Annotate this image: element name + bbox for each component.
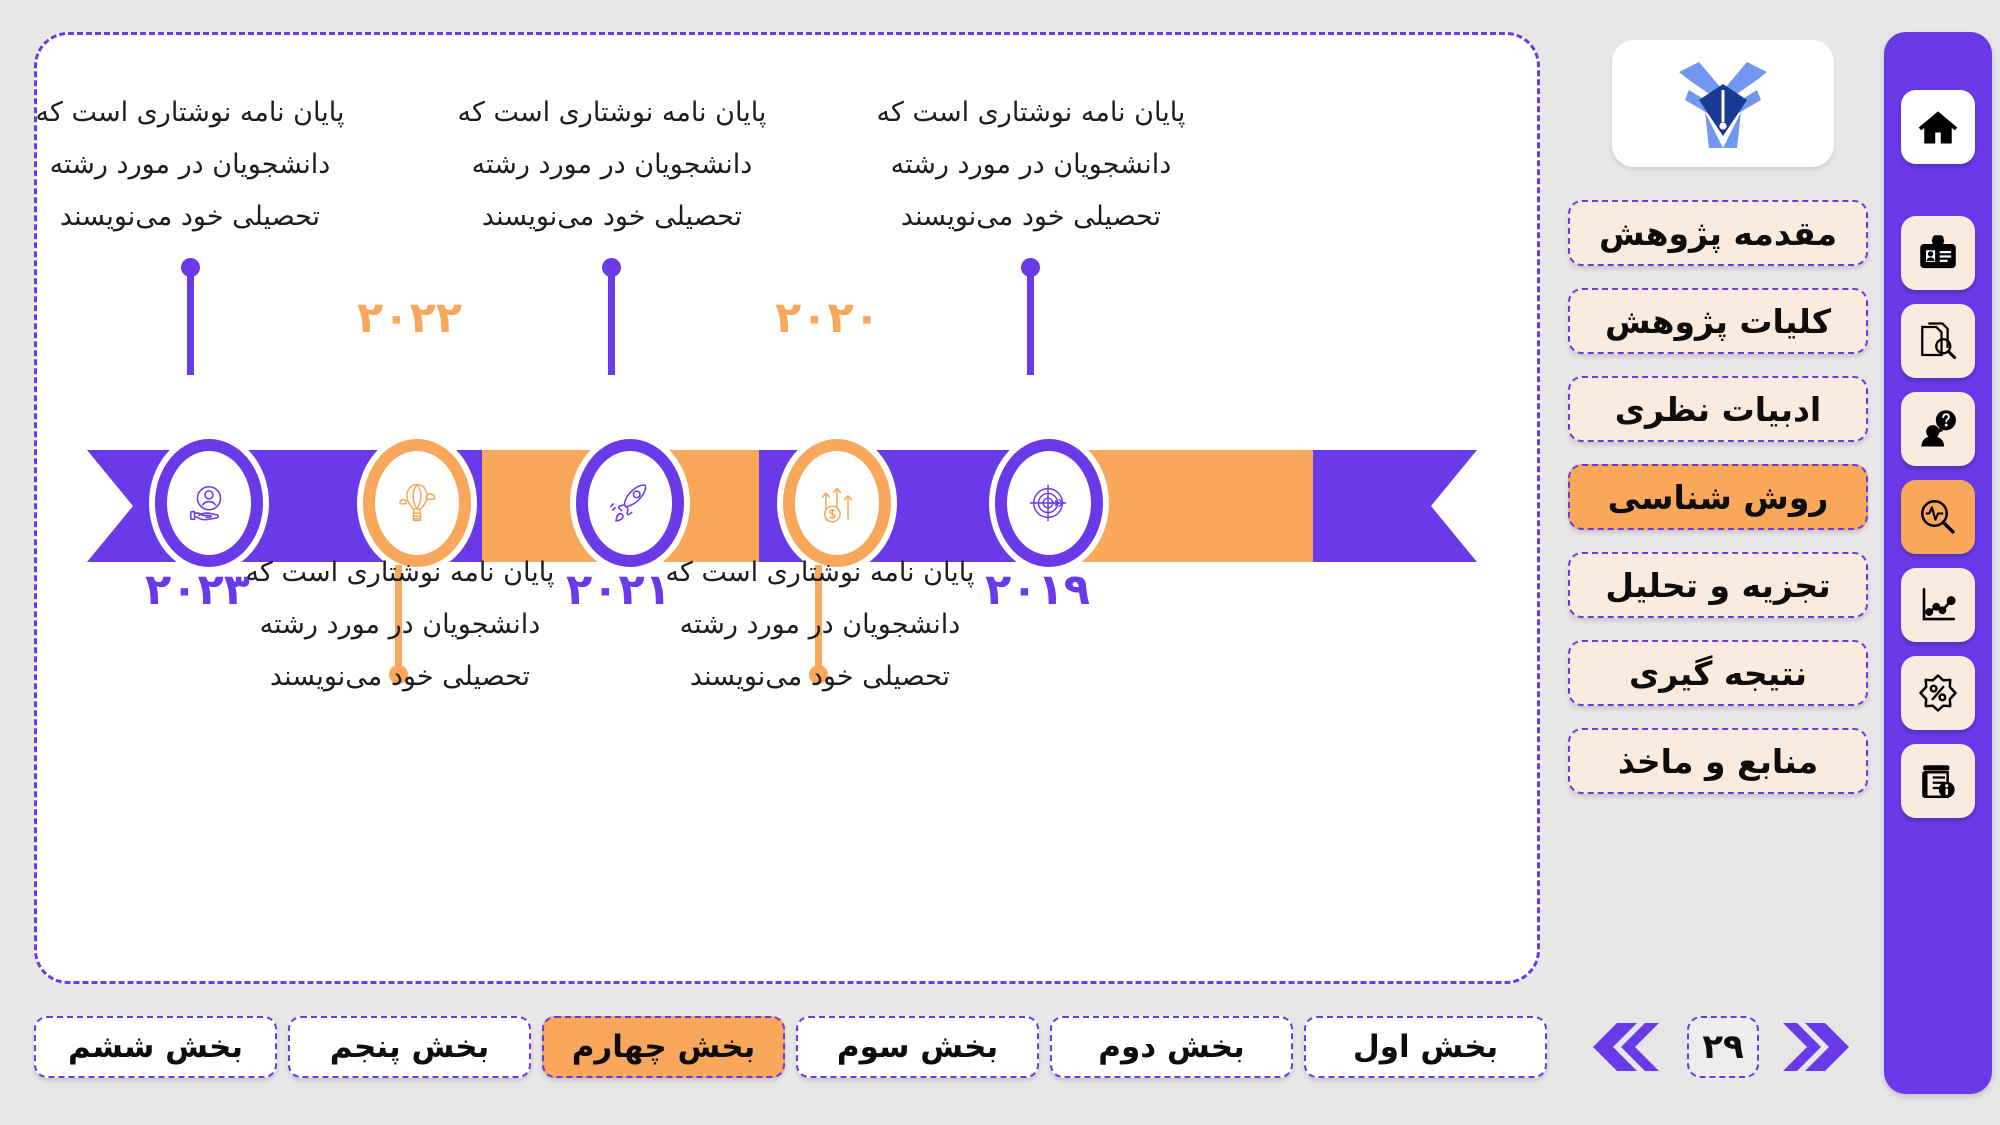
document-search-icon [1917, 320, 1959, 362]
sidebar-item-analysis[interactable]: تجزیه و تحلیل [1568, 552, 1868, 618]
year-label: ۲۰۲۲ [357, 293, 462, 343]
hot-air-balloon-icon [395, 480, 439, 526]
icon-rail [1884, 32, 1992, 1094]
tab-section-five[interactable]: بخش پنجم [288, 1016, 531, 1078]
content-card: ۲۰۲۳ پایان نامه نوشتاری است که دانشجویان… [34, 32, 1540, 984]
tab-label: بخش دوم [1098, 1029, 1245, 1065]
sidebar-item-label: مقدمه پژوهش [1599, 214, 1837, 253]
tab-section-three[interactable]: بخش سوم [796, 1016, 1039, 1078]
sidebar-item-overview[interactable]: کلیات پژوهش [1568, 288, 1868, 354]
double-chevron-left-icon [1583, 1021, 1659, 1073]
node-icon-holder [588, 451, 672, 555]
book-info-icon [1917, 760, 1959, 802]
milestone-description: پایان نامه نوشتاری است که دانشجویان در م… [655, 547, 985, 703]
line-chart-icon [1917, 584, 1959, 626]
rail-item-document-search[interactable] [1901, 304, 1975, 378]
sidebar-item-label: تجزیه و تحلیل [1605, 566, 1830, 605]
rail-item-references[interactable] [1901, 744, 1975, 818]
tab-label: بخش ششم [68, 1029, 243, 1065]
rail-item-question[interactable] [1901, 392, 1975, 466]
page-number-box[interactable]: ۲۹ [1687, 1016, 1759, 1078]
tab-section-six[interactable]: بخش ششم [34, 1016, 277, 1078]
id-badge-icon [1917, 232, 1959, 274]
sidebar-item-introduction[interactable]: مقدمه پژوهش [1568, 200, 1868, 266]
year-label: ۲۰۲۰ [775, 293, 880, 343]
home-icon [1916, 105, 1960, 149]
tab-section-two[interactable]: بخش دوم [1050, 1016, 1293, 1078]
rocket-icon [607, 480, 653, 526]
sidebar-item-label: منابع و ماخذ [1618, 742, 1818, 781]
milestone-description: پایان نامه نوشتاری است که دانشجویان در م… [866, 87, 1196, 243]
year-label: ۲۰۱۹ [985, 565, 1090, 615]
growth-arrows-dollar-icon [816, 480, 858, 526]
milestone-description: پایان نامه نوشتاری است که دانشجویان در م… [25, 87, 355, 243]
sidebar-item-references[interactable]: منابع و ماخذ [1568, 728, 1868, 794]
page-number: ۲۹ [1702, 1027, 1744, 1067]
rail-item-percent[interactable] [1901, 656, 1975, 730]
sidebar-item-label: روش شناسی [1608, 478, 1829, 517]
node-ring [995, 439, 1103, 567]
node-icon-holder [1007, 451, 1091, 555]
sidebar: مقدمه پژوهش کلیات پژوهش ادبیات نظری روش … [1560, 32, 1870, 984]
tab-label: بخش اول [1353, 1029, 1498, 1065]
rail-item-chart[interactable] [1901, 568, 1975, 642]
prev-page-button[interactable] [1580, 1016, 1662, 1078]
hand-holding-user-icon [186, 480, 232, 526]
azad-university-logo-icon [1659, 54, 1787, 154]
sidebar-item-label: ادبیات نظری [1615, 390, 1821, 429]
university-logo [1612, 40, 1834, 167]
next-page-button[interactable] [1780, 1016, 1862, 1078]
milestone-description: پایان نامه نوشتاری است که دانشجویان در م… [235, 547, 565, 703]
percent-badge-icon [1917, 672, 1959, 714]
connector-stem [608, 267, 615, 375]
milestone-description: پایان نامه نوشتاری است که دانشجویان در م… [447, 87, 777, 243]
sidebar-item-label: نتیجه گیری [1629, 654, 1807, 693]
sidebar-item-label: کلیات پژوهش [1605, 302, 1831, 341]
connector-stem [187, 267, 194, 375]
target-arrow-icon [1026, 480, 1072, 526]
sidebar-item-literature[interactable]: ادبیات نظری [1568, 376, 1868, 442]
sidebar-item-conclusion[interactable]: نتیجه گیری [1568, 640, 1868, 706]
tab-label: بخش پنجم [330, 1029, 490, 1065]
tab-section-four[interactable]: بخش چهارم [542, 1016, 785, 1078]
rail-item-methodology[interactable] [1901, 480, 1975, 554]
slide-canvas: ۲۰۲۳ پایان نامه نوشتاری است که دانشجویان… [0, 0, 2000, 1125]
tab-section-one[interactable]: بخش اول [1304, 1016, 1547, 1078]
sidebar-item-methodology[interactable]: روش شناسی [1568, 464, 1868, 530]
node-icon-holder [375, 451, 459, 555]
tab-label: بخش چهارم [572, 1029, 756, 1065]
node-icon-holder [795, 451, 879, 555]
node-icon-holder [167, 451, 251, 555]
timeline-node[interactable] [989, 433, 1109, 573]
tab-label: بخش سوم [837, 1029, 998, 1065]
connector-stem [1027, 267, 1034, 375]
double-chevron-right-icon [1783, 1021, 1859, 1073]
person-question-icon [1917, 408, 1959, 450]
rail-item-profile[interactable] [1901, 216, 1975, 290]
rail-item-home[interactable] [1901, 90, 1975, 164]
pulse-search-icon [1917, 496, 1959, 538]
